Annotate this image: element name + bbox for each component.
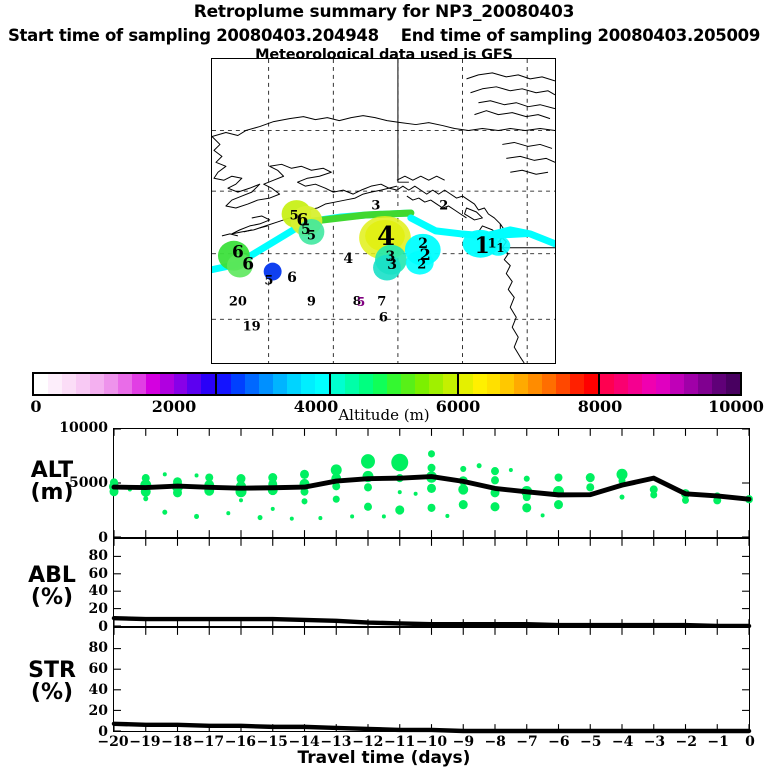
abl-row-label: ABL (%)	[4, 565, 100, 610]
y-tick-label: 10000	[59, 420, 108, 436]
colorbar-band	[514, 374, 528, 394]
colorbar-axis-title: Altitude (m)	[0, 406, 768, 424]
colorbar-band	[34, 374, 48, 394]
end-time-label: End time of sampling 20080403.205009	[401, 26, 760, 45]
colorbar-band	[48, 374, 62, 394]
colorbar-band	[600, 374, 614, 394]
y-tick-label: 20	[89, 601, 108, 617]
colorbar-band	[656, 374, 670, 394]
colorbar-band	[345, 374, 359, 394]
scatter-point	[271, 507, 275, 511]
altitude-colorbar[interactable]	[32, 372, 742, 396]
colorbar-band	[628, 374, 642, 394]
scatter-point	[477, 463, 482, 468]
scatter-point	[162, 510, 167, 515]
scatter-point	[459, 500, 468, 509]
scatter-point	[350, 514, 354, 518]
sampling-times: Start time of sampling 20080403.204948En…	[0, 26, 768, 45]
str-plot	[114, 628, 749, 731]
colorbar-band	[259, 374, 273, 394]
str-label-line2: (%)	[4, 682, 100, 704]
y-tick-label: 20	[89, 703, 108, 719]
colorbar-band	[556, 374, 570, 394]
x-tick-marks	[114, 539, 749, 626]
colorbar-band	[62, 374, 76, 394]
scatter-point	[524, 476, 530, 482]
scatter-point	[460, 466, 466, 472]
y-tick-label: 40	[89, 682, 108, 698]
colorbar-band	[487, 374, 501, 394]
abl-label-line2: (%)	[4, 587, 100, 609]
map-graphic	[212, 59, 555, 363]
scatter-point	[333, 496, 340, 503]
page-title: Retroplume summary for NP3_20080403	[0, 2, 768, 22]
colorbar-band	[712, 374, 726, 394]
scatter-point	[586, 483, 594, 491]
scatter-point	[173, 488, 182, 497]
scatter-point	[555, 473, 563, 481]
colorbar-band	[104, 374, 118, 394]
colorbar-band	[459, 374, 473, 394]
colorbar-band	[684, 374, 698, 394]
scatter-point	[491, 476, 499, 484]
colorbar-band	[500, 374, 514, 394]
colorbar-band	[174, 374, 188, 394]
scatter-point	[226, 511, 230, 515]
y-tick-label: 60	[89, 566, 108, 582]
colorbar-band	[387, 374, 401, 394]
scatter-point	[239, 498, 243, 502]
colorbar-band	[473, 374, 487, 394]
scatter-point	[143, 496, 148, 501]
alt-plot	[114, 429, 749, 537]
colorbar-band	[528, 374, 542, 394]
scatter-point	[541, 513, 545, 517]
colorbar-band	[90, 374, 104, 394]
colorbar-region: 0200040006000800010000	[32, 372, 742, 396]
scatter-point	[428, 464, 436, 472]
y-tick-marks	[114, 556, 749, 626]
scatter-point	[364, 483, 372, 491]
scatter-point	[318, 516, 322, 520]
colorbar-band	[301, 374, 315, 394]
y-tick-label: 0	[98, 619, 108, 635]
colorbar-band	[584, 374, 598, 394]
scatter-point	[509, 468, 513, 472]
colorbar-band	[726, 374, 740, 394]
colorbar-band	[217, 374, 231, 394]
colorbar-band	[359, 374, 373, 394]
scatter-point	[398, 490, 402, 494]
colorbar-band	[201, 374, 215, 394]
scatter-point	[554, 500, 563, 509]
y-tick-label: 5000	[69, 475, 108, 491]
retroplume-map[interactable]: 20196656956554857634332222111	[211, 58, 556, 364]
colorbar-band	[698, 374, 712, 394]
colorbar-band	[642, 374, 656, 394]
scatter-point	[391, 454, 408, 472]
y-tick-label: 80	[89, 640, 108, 656]
scatter-point	[382, 514, 386, 518]
colorbar-band	[273, 374, 287, 394]
scatter-point	[194, 514, 199, 519]
colorbar-band	[542, 374, 556, 394]
colorbar-band	[614, 374, 628, 394]
scatter-point	[445, 514, 449, 518]
scatter-point	[682, 497, 689, 504]
colorbar-band	[429, 374, 443, 394]
scatter-point	[302, 498, 308, 504]
scatter-point	[428, 504, 436, 512]
scatter-point	[195, 473, 199, 477]
y-tick-label: 0	[98, 530, 108, 546]
colorbar-band	[331, 374, 345, 394]
colorbar-band	[443, 374, 457, 394]
scatter-point	[428, 450, 435, 457]
scatter-point	[491, 502, 500, 511]
scatter-point	[586, 473, 595, 482]
colorbar-band	[118, 374, 132, 394]
scatter-point	[620, 494, 625, 499]
colorbar-band	[132, 374, 146, 394]
y-tick-marks	[114, 649, 749, 731]
scatter-point	[300, 470, 309, 479]
start-time-label: Start time of sampling 20080403.204948	[8, 26, 379, 45]
colorbar-band	[187, 374, 201, 394]
str-label-line1: STR	[4, 660, 100, 682]
colorbar-band	[373, 374, 387, 394]
scatter-point	[395, 505, 404, 514]
colorbar-band	[231, 374, 245, 394]
x-axis-title: Travel time (days)	[0, 748, 768, 768]
colorbar-band	[570, 374, 584, 394]
y-tick-label: 40	[89, 583, 108, 599]
x-tick-marks	[114, 628, 749, 731]
y-tick-label: 80	[89, 548, 108, 564]
y-tick-label: 60	[89, 661, 108, 677]
scatter-point	[650, 491, 657, 498]
colorbar-band	[287, 374, 301, 394]
scatter-point	[258, 515, 263, 520]
scatter-point	[427, 484, 436, 493]
colorbar-band	[670, 374, 684, 394]
abl-panel[interactable]	[113, 538, 750, 627]
alt-panel[interactable]	[113, 428, 750, 538]
str-panel[interactable]	[113, 627, 750, 732]
colorbar-band	[401, 374, 415, 394]
scatter-point	[522, 503, 531, 512]
colorbar-band	[415, 374, 429, 394]
scatter-point	[491, 467, 499, 475]
scatter-point	[414, 492, 418, 496]
scatter-point	[163, 472, 167, 476]
abl-label-line1: ABL	[4, 565, 100, 587]
colorbar-band	[146, 374, 160, 394]
colorbar-band	[76, 374, 90, 394]
str-row-label: STR (%)	[4, 660, 100, 705]
abl-plot	[114, 539, 749, 626]
colorbar-band	[315, 374, 329, 394]
colorbar-band	[245, 374, 259, 394]
colorbar-band	[160, 374, 174, 394]
scatter-point	[290, 517, 294, 521]
scatter-point	[361, 454, 375, 468]
scatter-point	[458, 484, 468, 494]
scatter-point	[364, 503, 372, 511]
